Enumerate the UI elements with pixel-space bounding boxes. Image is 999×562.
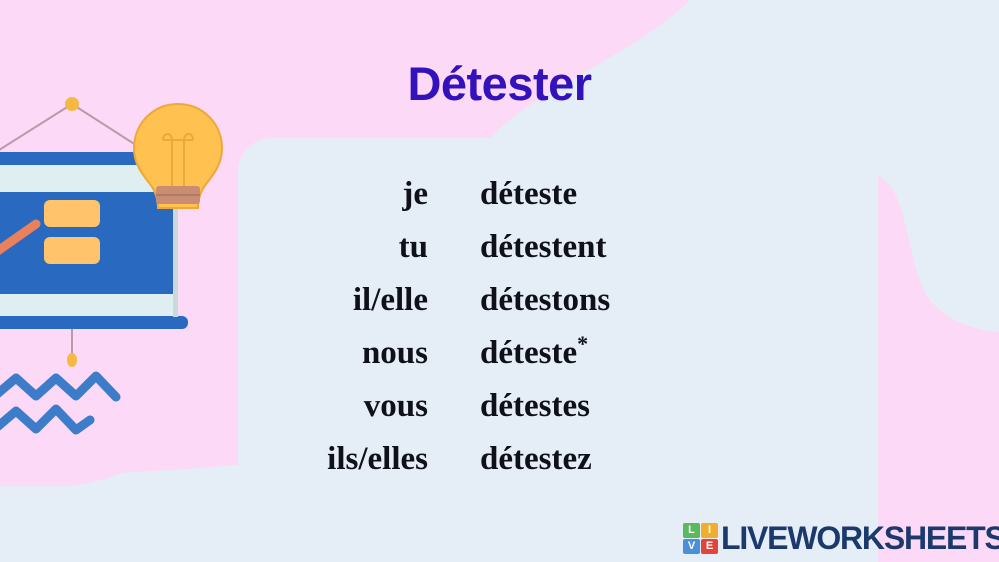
verb-cell: détestez <box>480 441 592 478</box>
table-row: vous détestes <box>238 388 858 441</box>
board-screen-bottom-band <box>0 294 178 316</box>
table-row: nous déteste* <box>238 335 858 388</box>
table-row: je déteste <box>238 176 858 229</box>
verb-text: détestes <box>480 388 590 424</box>
wave-decoration <box>0 362 145 440</box>
pronoun-cell: ils/elles <box>238 441 428 478</box>
pronoun-cell: tu <box>238 229 428 266</box>
table-row: ils/elles détestez <box>238 441 858 494</box>
asterisk-mark: * <box>577 331 588 356</box>
logo-tile-l: L <box>683 523 700 538</box>
worksheet-canvas: Détester je déteste tu détestent il/elle… <box>0 0 999 562</box>
verb-text: détestons <box>480 282 610 318</box>
screen-bar-lower <box>44 237 100 264</box>
verb-cell: détestent <box>480 229 606 266</box>
verb-text: déteste <box>480 176 577 212</box>
pronoun-cell: il/elle <box>238 282 428 319</box>
logo-wordmark: LIVEWORKSHEETS <box>721 522 999 554</box>
pronoun-cell: je <box>238 176 428 213</box>
pronoun-cell: vous <box>238 388 428 425</box>
verb-cell: détestes <box>480 388 590 425</box>
verb-text: détestent <box>480 229 606 265</box>
conjugation-table: je déteste tu détestent il/elle déteston… <box>238 176 858 494</box>
table-row: il/elle détestons <box>238 282 858 335</box>
verb-cell: déteste <box>480 176 577 213</box>
page-title: Détester <box>0 56 999 111</box>
logo-tile-e: E <box>701 539 718 554</box>
verb-cell: détestons <box>480 282 610 319</box>
presentation-board-illustration <box>0 82 230 372</box>
logo-tile-i: I <box>701 523 718 538</box>
logo-tile-v: V <box>683 539 700 554</box>
verb-text: déteste <box>480 335 577 371</box>
liveworksheets-logo[interactable]: L I V E LIVEWORKSHEETS <box>683 518 999 558</box>
screen-bar-upper <box>44 200 100 227</box>
wave-lower <box>0 409 90 430</box>
verb-cell: déteste* <box>480 335 588 372</box>
verb-text: détestez <box>480 441 592 477</box>
wave-upper <box>0 376 116 397</box>
pronoun-cell: nous <box>238 335 428 372</box>
logo-mark-icon: L I V E <box>683 523 718 554</box>
table-row: tu détestent <box>238 229 858 282</box>
board-bottom-rail <box>0 316 188 329</box>
